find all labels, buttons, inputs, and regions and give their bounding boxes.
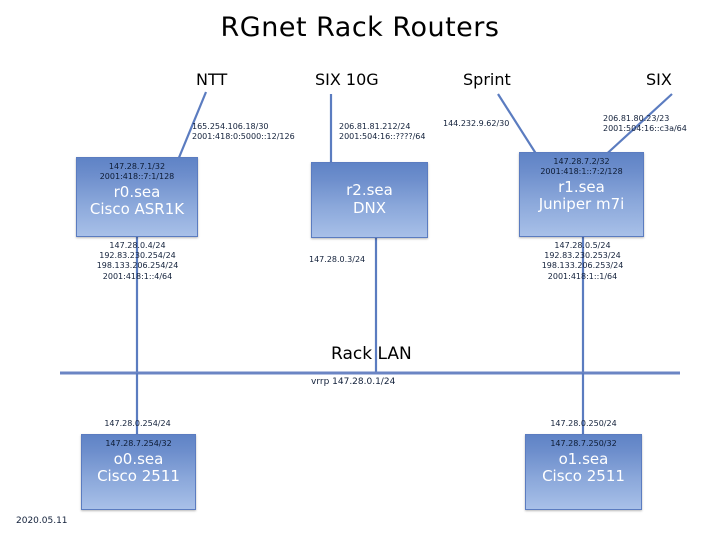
node-r1-model: Juniper m7i [539,196,625,214]
node-r0-loopback-v6: 2001:418::7:1/128 [100,172,175,182]
uplink-addresses-sprint: 144.232.9.62/30 [443,119,509,129]
uplink-addresses-ntt: 165.254.106.18/30 2001:418:0:5000::12/12… [192,122,295,142]
node-o1-sea[interactable]: 147.28.7.250/32 o1.sea Cisco 2511 [525,434,642,510]
node-o0-model: Cisco 2511 [97,468,180,486]
node-r2-model: DNX [353,200,386,218]
node-r0-loopback-v4: 147.28.7.1/32 [109,162,165,172]
node-o1-loopback-v4: 147.28.7.250/32 [550,439,616,449]
iflabel-o0-lan: 147.28.0.254/24 [75,419,200,429]
uplink-six-ipv4: 206.81.80.23/23 [603,114,687,124]
node-o1-name: o1.sea [559,451,609,469]
node-o0-sea[interactable]: 147.28.7.254/32 o0.sea Cisco 2511 [81,434,196,510]
node-o1-model: Cisco 2511 [542,468,625,486]
node-r1-name: r1.sea [558,179,605,197]
node-r1-loopback-v4: 147.28.7.2/32 [553,157,609,167]
uplink-six10g-ipv4: 206.81.81.212/24 [339,122,425,132]
uplink-label-six: SIX [646,70,672,89]
node-o0-loopback-v4: 147.28.7.254/32 [105,439,171,449]
iflabel-r1-addr-0: 147.28.0.5/24 [510,241,655,251]
iflabel-r2-addr-0: 147.28.0.3/24 [309,255,365,265]
iflabel-r0-lan: 147.28.0.4/24 192.83.230.254/24 198.133.… [65,241,210,282]
rack-lan-label: Rack LAN [331,344,412,364]
node-r1-loopback-v6: 2001:418:1::7:2/128 [540,167,622,177]
node-r2-sea[interactable]: r2.sea DNX [311,162,428,238]
iflabel-o1-lan: 147.28.0.250/24 [521,419,646,429]
node-r2-name: r2.sea [346,182,393,200]
rack-lan-vrrp-label: vrrp 147.28.0.1/24 [311,377,395,387]
uplink-addresses-six-10g: 206.81.81.212/24 2001:504:16::????/64 [339,122,425,142]
iflabel-r1-addr-1: 192.83.230.253/24 [510,251,655,261]
iflabel-r1-addr-3: 2001:418:1::1/64 [510,272,655,282]
uplink-ntt-ipv4: 165.254.106.18/30 [192,122,295,132]
iflabel-r2-lan: 147.28.0.3/24 [309,255,365,265]
uplink-sprint-ipv4: 144.232.9.62/30 [443,119,509,129]
uplink-six10g-ipv6: 2001:504:16::????/64 [339,132,425,142]
uplink-six-ipv6: 2001:504:16::c3a/64 [603,124,687,134]
iflabel-r0-addr-0: 147.28.0.4/24 [65,241,210,251]
uplink-addresses-six: 206.81.80.23/23 2001:504:16::c3a/64 [603,114,687,134]
date-stamp: 2020.05.11 [16,516,68,526]
uplink-label-ntt: NTT [196,70,227,89]
diagram-canvas: RGnet Rack Routers NTT SIX 10G Sprint SI… [0,0,720,540]
node-r0-sea[interactable]: 147.28.7.1/32 2001:418::7:1/128 r0.sea C… [76,157,198,237]
iflabel-r0-addr-3: 2001:418:1::4/64 [65,272,210,282]
uplink-label-six-10g: SIX 10G [315,70,379,89]
iflabel-r1-lan: 147.28.0.5/24 192.83.230.253/24 198.133.… [510,241,655,282]
uplink-label-sprint: Sprint [463,70,511,89]
iflabel-r0-addr-2: 198.133.206.254/24 [65,261,210,271]
node-r0-model: Cisco ASR1K [90,201,184,219]
node-r1-sea[interactable]: 147.28.7.2/32 2001:418:1::7:2/128 r1.sea… [519,152,644,237]
node-o0-name: o0.sea [114,451,164,469]
node-r0-name: r0.sea [114,184,161,202]
uplink-ntt-ipv6: 2001:418:0:5000::12/126 [192,132,295,142]
iflabel-r1-addr-2: 198.133.206.253/24 [510,261,655,271]
iflabel-r0-addr-1: 192.83.230.254/24 [65,251,210,261]
